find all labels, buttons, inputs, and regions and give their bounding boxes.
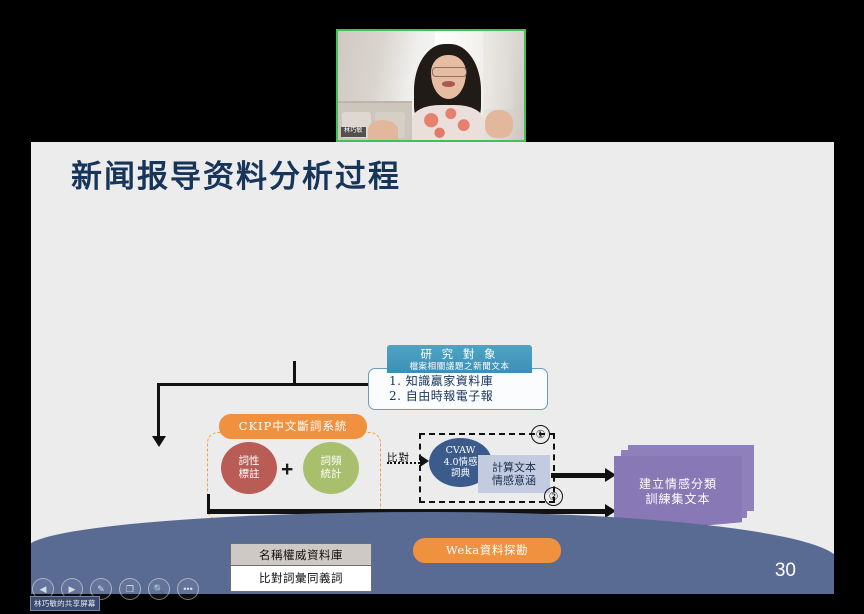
research-object-body: 1. 知識贏家資料庫 2. 自由時報電子報 <box>368 368 548 410</box>
ckip-pos-line2: 標註 <box>239 468 260 481</box>
video-person-mouth <box>442 81 455 86</box>
calc-line1: 計算文本 <box>492 461 536 474</box>
participant-video-thumbnail[interactable]: 林巧敏 <box>336 29 526 142</box>
video-person-shirt-pattern <box>420 107 476 140</box>
arrowhead-to-ckip <box>152 436 166 447</box>
presentation-slide: 新闻报导资料分析过程 1. 知識贏家資料庫 2. 自由時報電子報 研 究 對 象… <box>31 142 834 594</box>
calc-line2: 情感意涵 <box>492 474 536 487</box>
cvaw-line3: 詞典 <box>451 468 470 480</box>
share-screen-label: 林巧敏的共享屏幕 <box>30 596 100 611</box>
marker-one: ① <box>531 425 550 444</box>
ckip-freq-stat-circle: 詞頻 統計 <box>303 442 359 494</box>
screen-share-stage: 林巧敏 新闻报导资料分析过程 1. 知識贏家資料庫 2. 自由時報電子報 研 究… <box>0 0 864 614</box>
arrow-one-to-training <box>551 473 608 478</box>
name-authority-box: 名稱權威資料庫 比對詞彙同義詞 <box>230 543 372 592</box>
arrow-ro-to-ckip-vert <box>157 383 160 438</box>
page-title: 新闻报导资料分析过程 <box>71 151 401 196</box>
ckip-pos-tagging-circle: 詞性 標註 <box>221 442 277 494</box>
training-set-document: 建立情感分類 訓練集文本 <box>614 456 742 528</box>
research-object-header: 研 究 對 象 檔案相關議題之新聞文本 <box>387 345 532 373</box>
more-options-icon[interactable]: ••• <box>177 578 199 600</box>
ckip-header: CKIP中文斷詞系統 <box>219 414 367 439</box>
plus-icon: + <box>281 458 293 482</box>
research-object-subtitle: 檔案相關議題之新聞文本 <box>409 362 509 372</box>
arrow-ro-stub <box>293 361 296 383</box>
ckip-pos-line1: 詞性 <box>239 455 260 468</box>
name-authority-body: 比對詞彙同義詞 <box>231 566 371 590</box>
marker-two: ② <box>544 487 563 506</box>
research-object-item-2: 2. 自由時報電子報 <box>389 389 493 404</box>
compare-dotted-line <box>387 462 423 464</box>
calc-sentiment-box: 計算文本 情感意涵 <box>478 455 550 493</box>
arrow-two-riser <box>207 494 210 512</box>
training-set-line1: 建立情感分類 <box>639 477 717 492</box>
video-curtain-right <box>483 31 513 109</box>
research-object-item-1: 1. 知識贏家資料庫 <box>389 374 493 389</box>
video-person-arm <box>368 120 398 140</box>
ckip-freq-line1: 詞頻 <box>321 455 342 468</box>
cvaw-line1: CVAW <box>446 445 476 457</box>
shapes-icon[interactable]: ❐ <box>119 578 141 600</box>
weka-header: Weka資料探勘 <box>413 538 561 563</box>
slide-page-number: 30 <box>775 560 796 582</box>
video-person-glasses <box>432 67 467 77</box>
name-authority-header: 名稱權威資料庫 <box>231 544 371 566</box>
search-icon[interactable]: 🔍 <box>148 578 170 600</box>
video-participant-name: 林巧敏 <box>341 127 366 137</box>
video-person-hand <box>485 110 513 138</box>
cvaw-line2: 4.0情感 <box>443 457 477 469</box>
research-object-title: 研 究 對 象 <box>421 347 499 361</box>
arrow-ro-to-ckip-horz <box>157 383 370 386</box>
ckip-freq-line2: 統計 <box>321 468 342 481</box>
training-set-line2: 訓練集文本 <box>645 492 710 507</box>
